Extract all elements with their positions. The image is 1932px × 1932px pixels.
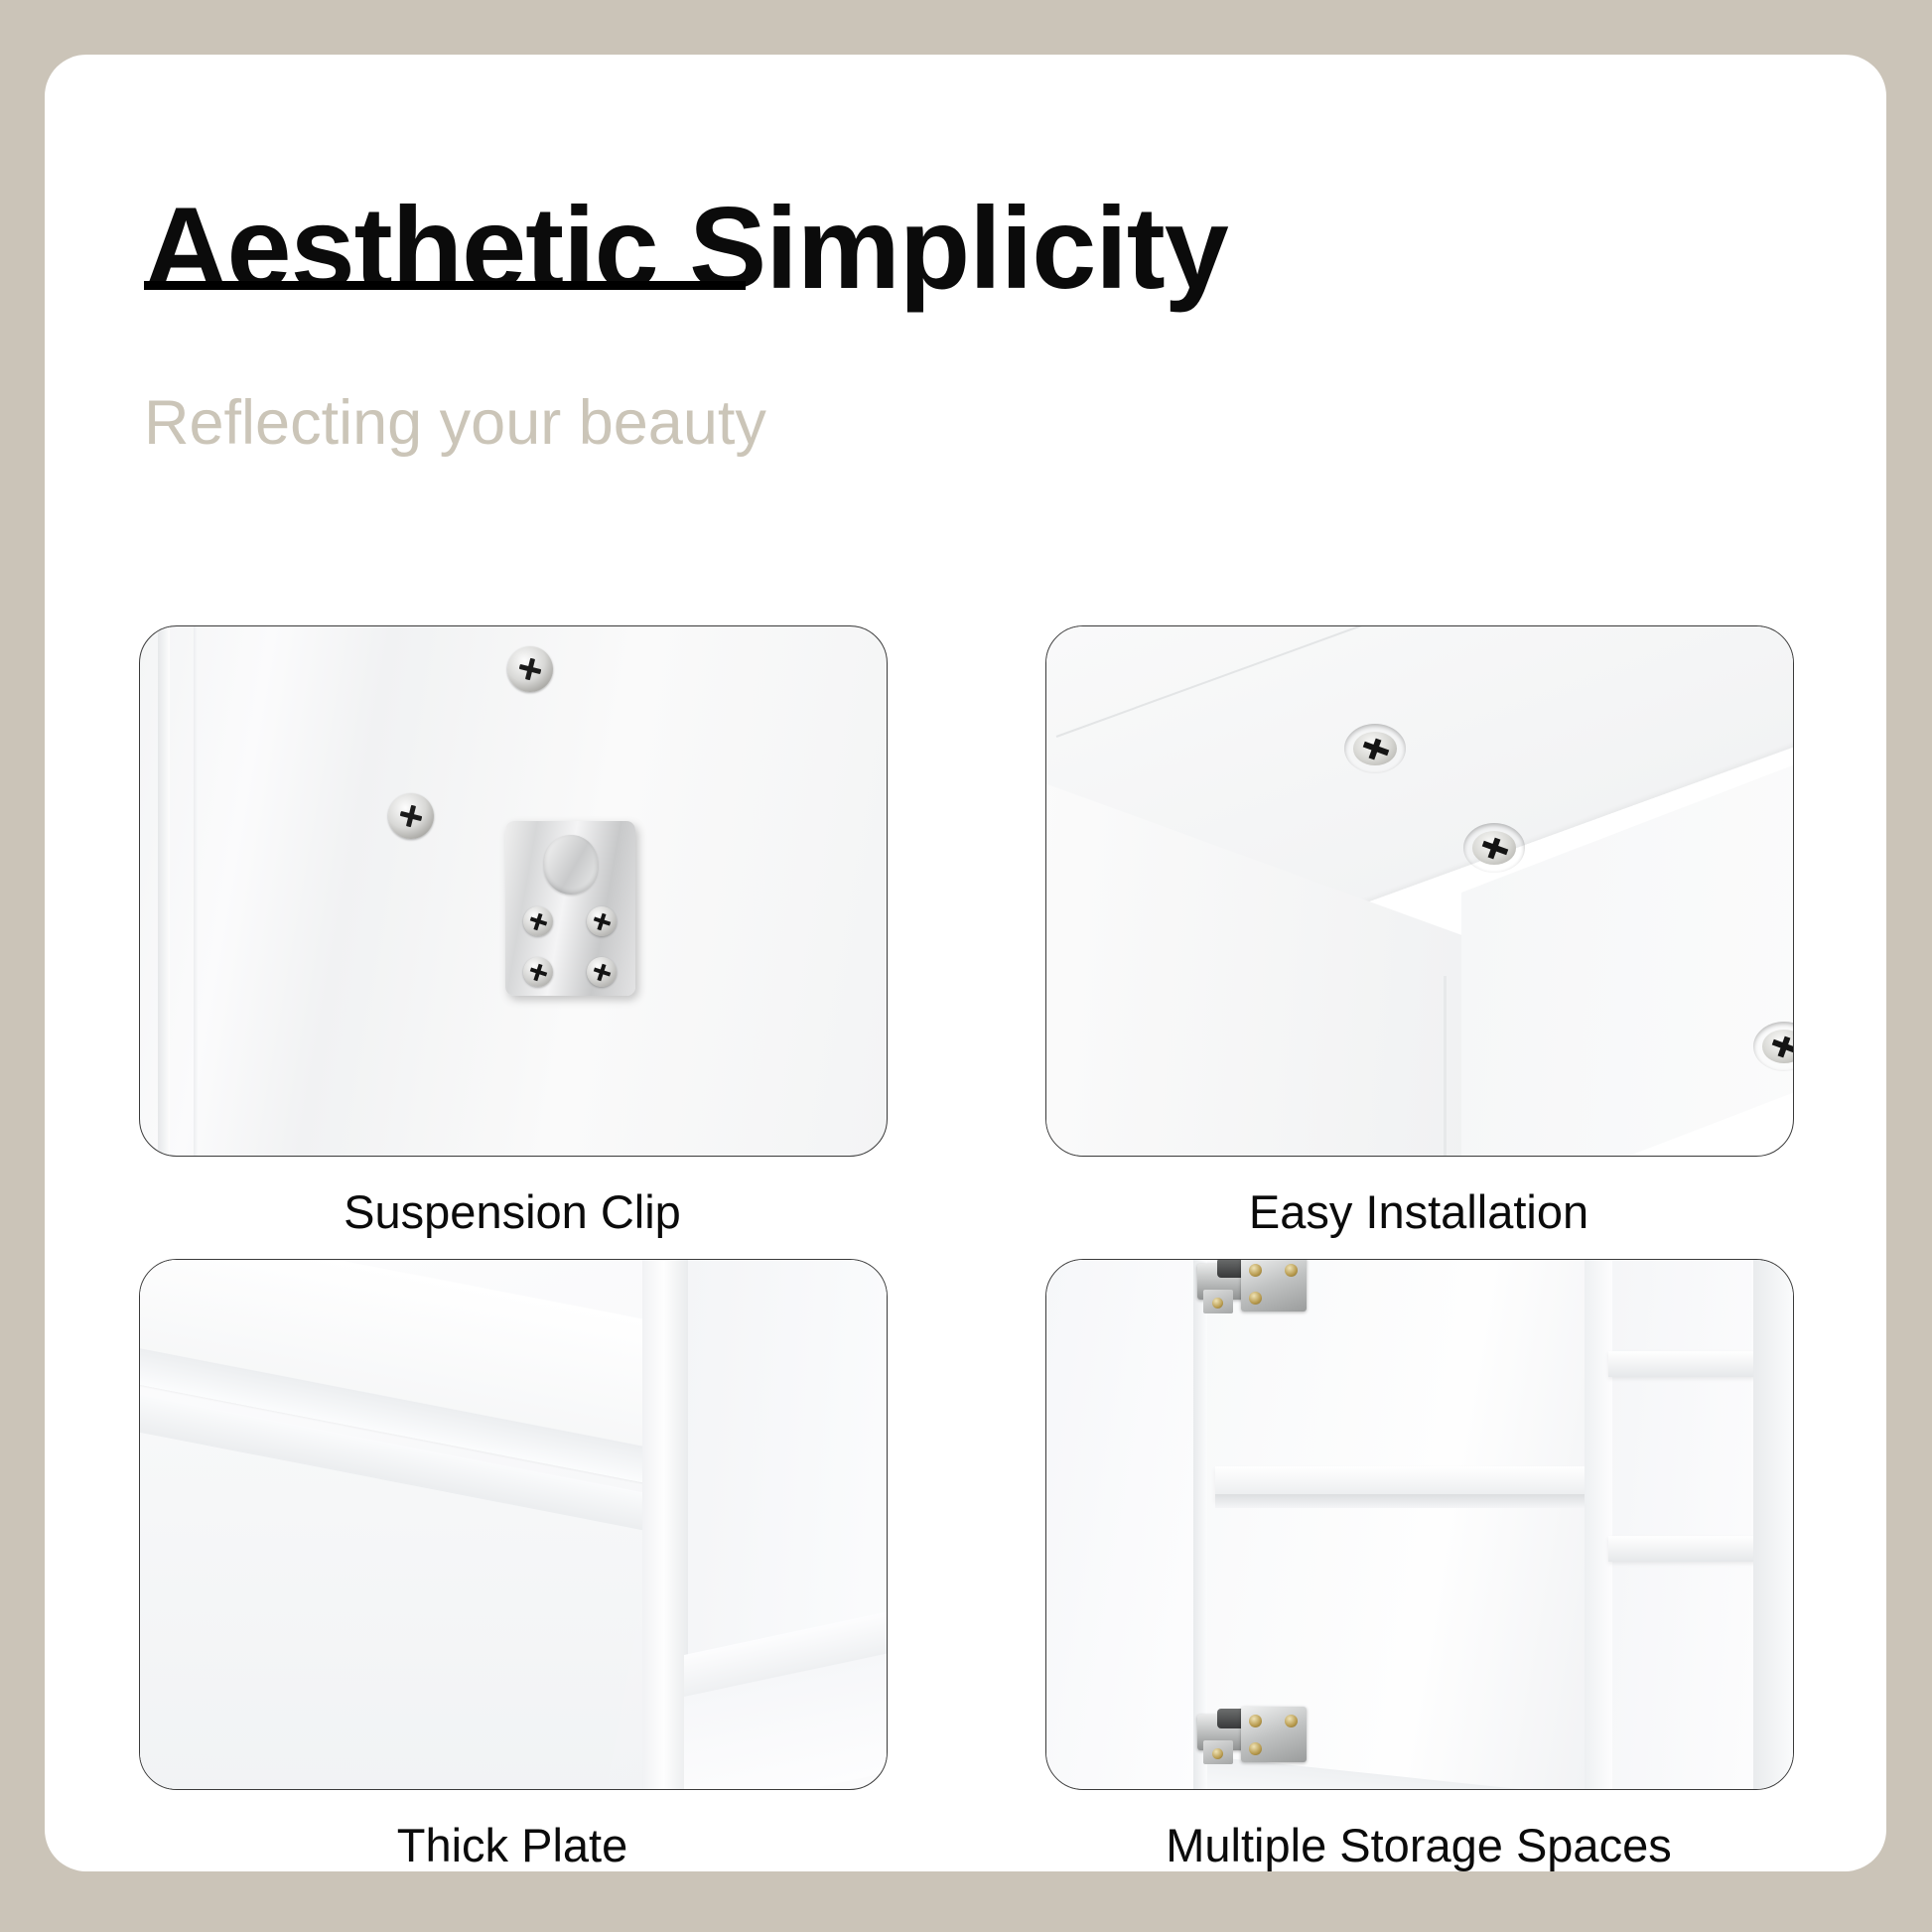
feature-card-thick-plate: Thick Plate: [139, 1259, 886, 1871]
feature-caption: Suspension Clip: [139, 1186, 886, 1238]
vertical-divider-board: [642, 1259, 690, 1790]
title-underline-rule: [144, 281, 746, 290]
feature-image-easy-installation: [1045, 625, 1794, 1157]
cabinet-hinge-icon: [1197, 1707, 1307, 1764]
bracket-screw-icon: [587, 957, 617, 987]
feature-card-multiple-storage-spaces: Multiple Storage Spaces: [1045, 1259, 1792, 1871]
feature-caption: Thick Plate: [139, 1820, 886, 1871]
cabinet-door-panel: [1046, 1260, 1195, 1789]
feature-image-multiple-storage-spaces: [1045, 1259, 1794, 1790]
open-side-column: [1612, 1260, 1751, 1789]
feature-caption: Easy Installation: [1045, 1186, 1792, 1238]
middle-shelf-underside: [1215, 1494, 1587, 1508]
divider-column: [1585, 1260, 1612, 1789]
countersunk-screw-icon: [1344, 724, 1406, 773]
feature-card-suspension-clip: Suspension Clip: [139, 625, 886, 1238]
phillips-screw-icon: [507, 646, 553, 692]
feature-image-thick-plate: [139, 1259, 888, 1790]
feature-caption: Multiple Storage Spaces: [1045, 1820, 1792, 1871]
panel-edge-left-secondary: [194, 626, 198, 1156]
side-shelf-board: [1608, 1536, 1757, 1562]
side-shelf-board: [1608, 1351, 1757, 1377]
countersunk-screw-icon: [1463, 823, 1525, 873]
phillips-screw-icon: [388, 793, 434, 839]
panel-seam: [1444, 976, 1447, 1157]
page-subtitle: Reflecting your beauty: [144, 392, 766, 455]
bracket-screw-icon: [587, 906, 617, 936]
feature-card-easy-installation: Easy Installation: [1045, 625, 1792, 1238]
cabinet-outer-wall: [1753, 1260, 1794, 1789]
cabinet-hinge-icon: [1197, 1259, 1307, 1313]
suspension-bracket: [505, 821, 635, 996]
bracket-hook-tab: [544, 835, 598, 895]
panel-edge-left: [158, 626, 170, 1156]
feature-image-suspension-clip: [139, 625, 888, 1157]
feature-grid: Suspension Clip Easy In: [139, 625, 1793, 1842]
bracket-screw-icon: [523, 957, 553, 987]
bracket-screw-icon: [523, 906, 553, 936]
content-card: Aesthetic Simplicity Reflecting your bea…: [45, 55, 1886, 1871]
